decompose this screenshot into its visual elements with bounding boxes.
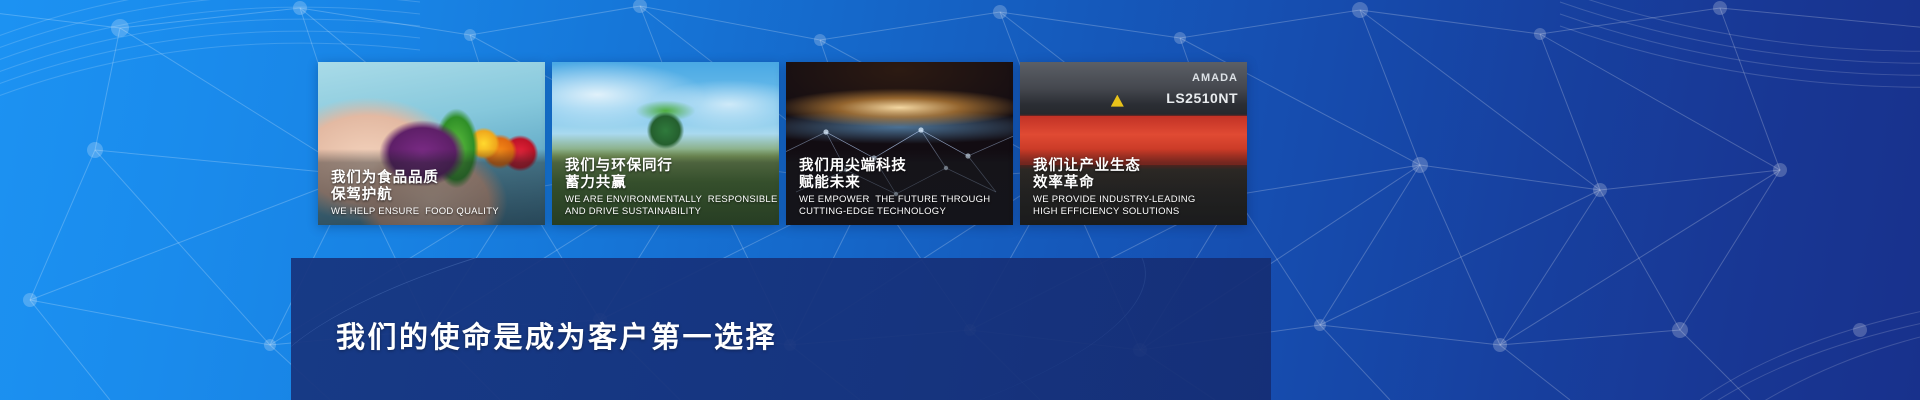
card-en-line-1: WE PROVIDE INDUSTRY-LEADING	[1033, 194, 1239, 206]
card-en-block: WE PROVIDE INDUSTRY-LEADING HIGH EFFICIE…	[1033, 194, 1239, 217]
mission-banner: 我们的使命是成为客户第一选择	[291, 258, 1271, 400]
card-cn-line-1: 我们让产业生态	[1033, 158, 1239, 175]
card-cn-line-2: 保驾护航	[331, 187, 537, 204]
card-industry[interactable]: AMADA LS2510NT 我们让产业生态 效率革命 WE PROVIDE I…	[1020, 62, 1247, 225]
card-technology-text: 我们用尖端科技 赋能未来 WE EMPOWER THE FUTURE THROU…	[799, 158, 1005, 217]
card-cn-line-1: 我们为食品品质	[331, 170, 537, 187]
machine-brand-label: AMADA	[1192, 72, 1238, 84]
warning-triangle-icon	[1111, 95, 1124, 107]
card-en-line-1: WE EMPOWER THE FUTURE THROUGH	[799, 194, 1005, 206]
card-en-line-1: WE ARE ENVIRONMENTALLY RESPONSIBLE	[565, 194, 771, 206]
card-en-block: WE ARE ENVIRONMENTALLY RESPONSIBLE AND D…	[565, 194, 771, 217]
card-food-quality-text: 我们为食品品质 保驾护航 WE HELP ENSURE FOOD QUALITY	[331, 170, 537, 218]
card-cn-line-2: 蓄力共赢	[565, 175, 771, 192]
card-cn-line-1: 我们用尖端科技	[799, 158, 1005, 175]
card-industry-text: 我们让产业生态 效率革命 WE PROVIDE INDUSTRY-LEADING…	[1033, 158, 1239, 217]
card-en-block: WE EMPOWER THE FUTURE THROUGH CUTTING-ED…	[799, 194, 1005, 217]
card-technology[interactable]: 我们用尖端科技 赋能未来 WE EMPOWER THE FUTURE THROU…	[786, 62, 1013, 225]
card-cn-line-2: 赋能未来	[799, 175, 1005, 192]
machine-model-label: LS2510NT	[1166, 90, 1238, 106]
card-environment[interactable]: 我们与环保同行 蓄力共赢 WE ARE ENVIRONMENTALLY RESP…	[552, 62, 779, 225]
card-en-line-2: CUTTING-EDGE TECHNOLOGY	[799, 206, 1005, 218]
card-food-quality[interactable]: 我们为食品品质 保驾护航 WE HELP ENSURE FOOD QUALITY	[318, 62, 545, 225]
card-en-line-1: WE HELP ENSURE FOOD QUALITY	[331, 206, 537, 218]
card-cn-line-2: 效率革命	[1033, 175, 1239, 192]
card-cn-line-1: 我们与环保同行	[565, 158, 771, 175]
card-en-line-2: HIGH EFFICIENCY SOLUTIONS	[1033, 206, 1239, 218]
card-en-block: WE HELP ENSURE FOOD QUALITY	[331, 206, 537, 218]
card-en-line-2: AND DRIVE SUSTAINABILITY	[565, 206, 771, 218]
card-environment-text: 我们与环保同行 蓄力共赢 WE ARE ENVIRONMENTALLY RESP…	[565, 158, 771, 217]
mission-title: 我们的使命是成为客户第一选择	[336, 314, 777, 356]
